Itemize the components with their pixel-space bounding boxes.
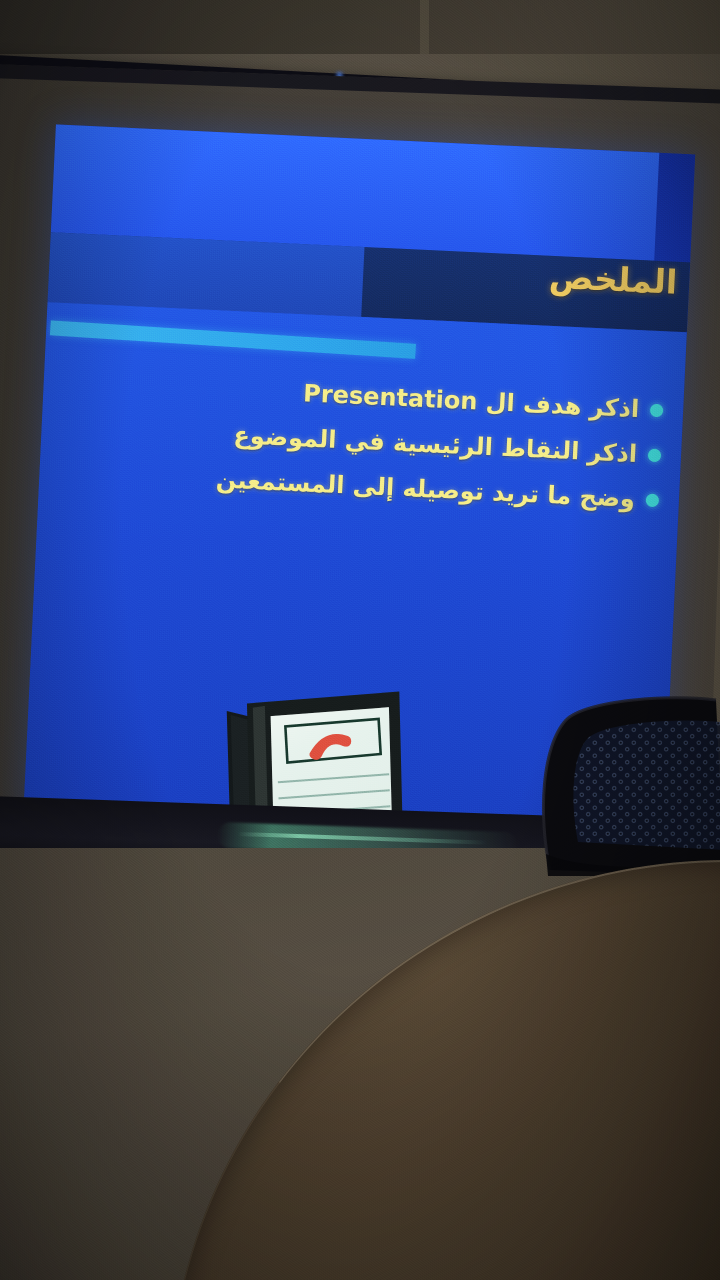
bullet-text: اذكر النقاط الرئيسية في الموضوع xyxy=(233,420,638,469)
bullet-dot-icon xyxy=(646,493,660,507)
bullet-dot-icon xyxy=(650,403,664,417)
photograph-of-meeting-room: الملخص اذكر هدف ال Presentation اذكر الن… xyxy=(0,0,720,1280)
bullet-text: وضح ما تريد توصيله إلى المستمعين xyxy=(215,464,635,514)
bullet-dot-icon xyxy=(648,448,662,462)
office-chair xyxy=(520,694,720,876)
